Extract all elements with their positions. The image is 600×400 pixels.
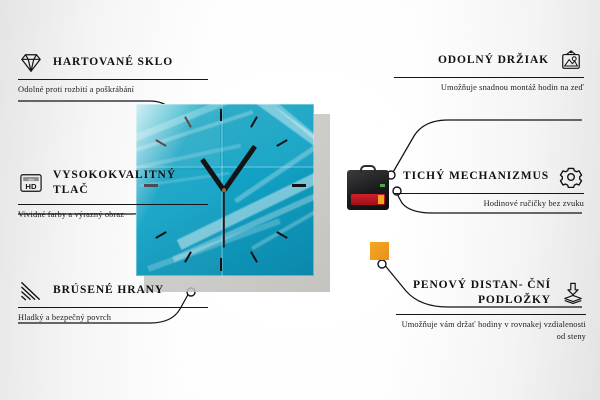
feature-description: Hodinové ručičky bez zvuku xyxy=(394,198,584,210)
feature-high-quality-print: ultra HD VYSOKOKVALITNÝ TLAČ Vividné far… xyxy=(18,168,208,221)
foam-spacer xyxy=(370,242,389,260)
feature-tempered-glass: HARTOVANÉ SKLO Odolné proti rozbití a po… xyxy=(18,52,208,96)
diamond-icon xyxy=(18,52,44,74)
feature-title: PENOVÝ DISTAN- ČNÍ PODLOŽKY xyxy=(396,278,551,309)
feature-title: BRÚSENÉ HRANY xyxy=(53,283,164,298)
svg-text:HD: HD xyxy=(25,182,37,191)
divider xyxy=(18,307,208,308)
ultra-hd-icon: ultra HD xyxy=(18,172,44,194)
feature-title: TICHÝ MECHANIZMUS xyxy=(403,169,549,184)
ground-edges-icon xyxy=(18,280,44,302)
gear-icon xyxy=(558,166,584,188)
feature-description: Hladký a bezpečný povrch xyxy=(18,312,208,324)
feature-silent-mechanism: TICHÝ MECHANIZMUS Hodinové ručičky bez z… xyxy=(394,166,584,210)
hanging-frame-icon xyxy=(558,50,584,72)
feature-description: Umožňuje snadnou montáž hodin na zeď xyxy=(394,82,584,94)
mechanism-led xyxy=(380,184,385,187)
divider xyxy=(396,314,586,315)
feature-title: HARTOVANÉ SKLO xyxy=(53,55,173,70)
feature-ground-edges: BRÚSENÉ HRANY Hladký a bezpečný povrch xyxy=(18,280,208,324)
clock-mechanism xyxy=(347,170,389,210)
divider xyxy=(394,77,584,78)
feature-title: VYSOKOKVALITNÝ TLAČ xyxy=(53,168,208,199)
feature-description: Umožňuje vám držať hodiny v rovnakej vzd… xyxy=(396,319,586,343)
feature-durable-holder: ODOLNÝ DRŽIAK Umožňuje snadnou montáž ho… xyxy=(394,50,584,94)
divider xyxy=(394,193,584,194)
feature-description: Odolné proti rozbití a poškrábání xyxy=(18,84,208,96)
feature-title: ODOLNÝ DRŽIAK xyxy=(438,53,549,68)
divider xyxy=(18,79,208,80)
press-layers-icon xyxy=(560,282,586,304)
feature-description: Vividné farby a výrazný obraz xyxy=(18,209,208,221)
svg-text:ultra: ultra xyxy=(28,178,34,182)
feature-foam-spacers: PENOVÝ DISTAN- ČNÍ PODLOŽKY Umožňuje vám… xyxy=(396,278,586,343)
mechanism-hanger xyxy=(360,165,376,173)
divider xyxy=(18,204,208,205)
mechanism-battery xyxy=(351,194,385,205)
